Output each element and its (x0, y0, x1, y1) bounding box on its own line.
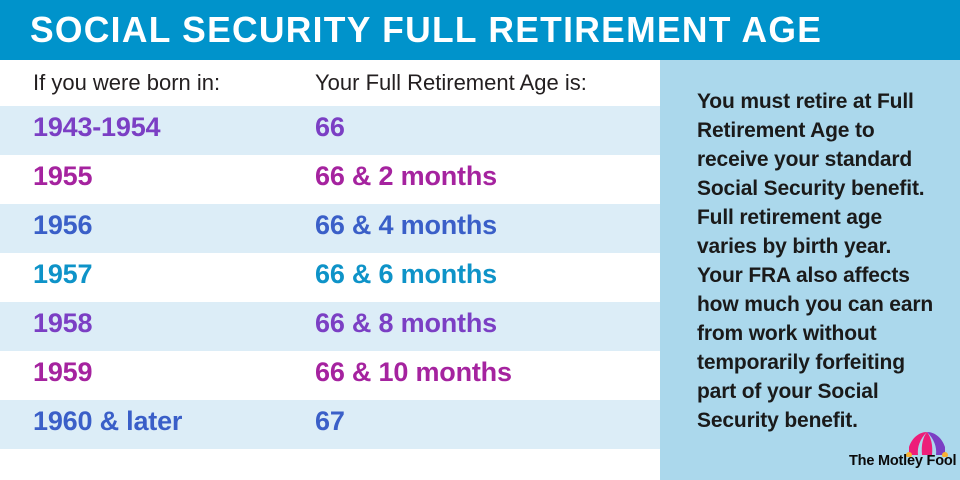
motley-fool-logo: The Motley Fool (849, 431, 949, 469)
table-row: 195666 & 4 months (0, 204, 660, 253)
column-header-birth-year: If you were born in: (33, 70, 220, 96)
cell-full-retirement-age: 66 & 4 months (315, 210, 497, 241)
cell-birth-year: 1943-1954 (33, 112, 160, 143)
column-header-full-retirement-age: Your Full Retirement Age is: (315, 70, 587, 96)
cell-full-retirement-age: 66 (315, 112, 345, 143)
cell-full-retirement-age: 67 (315, 406, 345, 437)
infographic-root: SOCIAL SECURITY FULL RETIREMENT AGE If y… (0, 0, 960, 480)
table-row: 195566 & 2 months (0, 155, 660, 204)
table-body: 1943-195466195566 & 2 months195666 & 4 m… (0, 106, 660, 449)
page-title: SOCIAL SECURITY FULL RETIREMENT AGE (30, 9, 917, 51)
cell-birth-year: 1959 (33, 357, 92, 388)
table-header-row: If you were born in: Your Full Retiremen… (0, 60, 660, 106)
table-row: 195866 & 8 months (0, 302, 660, 351)
cell-full-retirement-age: 66 & 10 months (315, 357, 512, 388)
table-row: 195766 & 6 months (0, 253, 660, 302)
note-panel: You must retire at Full Retirement Age t… (660, 60, 960, 480)
table-row: 1960 & later67 (0, 400, 660, 449)
cell-full-retirement-age: 66 & 2 months (315, 161, 497, 192)
cell-birth-year: 1956 (33, 210, 92, 241)
motley-fool-wordmark: The Motley Fool (849, 453, 956, 469)
cell-birth-year: 1960 & later (33, 406, 182, 437)
cell-birth-year: 1958 (33, 308, 92, 339)
note-text: You must retire at Full Retirement Age t… (697, 87, 939, 435)
table-row: 195966 & 10 months (0, 351, 660, 400)
cell-full-retirement-age: 66 & 6 months (315, 259, 497, 290)
cell-full-retirement-age: 66 & 8 months (315, 308, 497, 339)
retirement-age-table: If you were born in: Your Full Retiremen… (0, 60, 660, 480)
table-row: 1943-195466 (0, 106, 660, 155)
cell-birth-year: 1955 (33, 161, 92, 192)
cell-birth-year: 1957 (33, 259, 92, 290)
